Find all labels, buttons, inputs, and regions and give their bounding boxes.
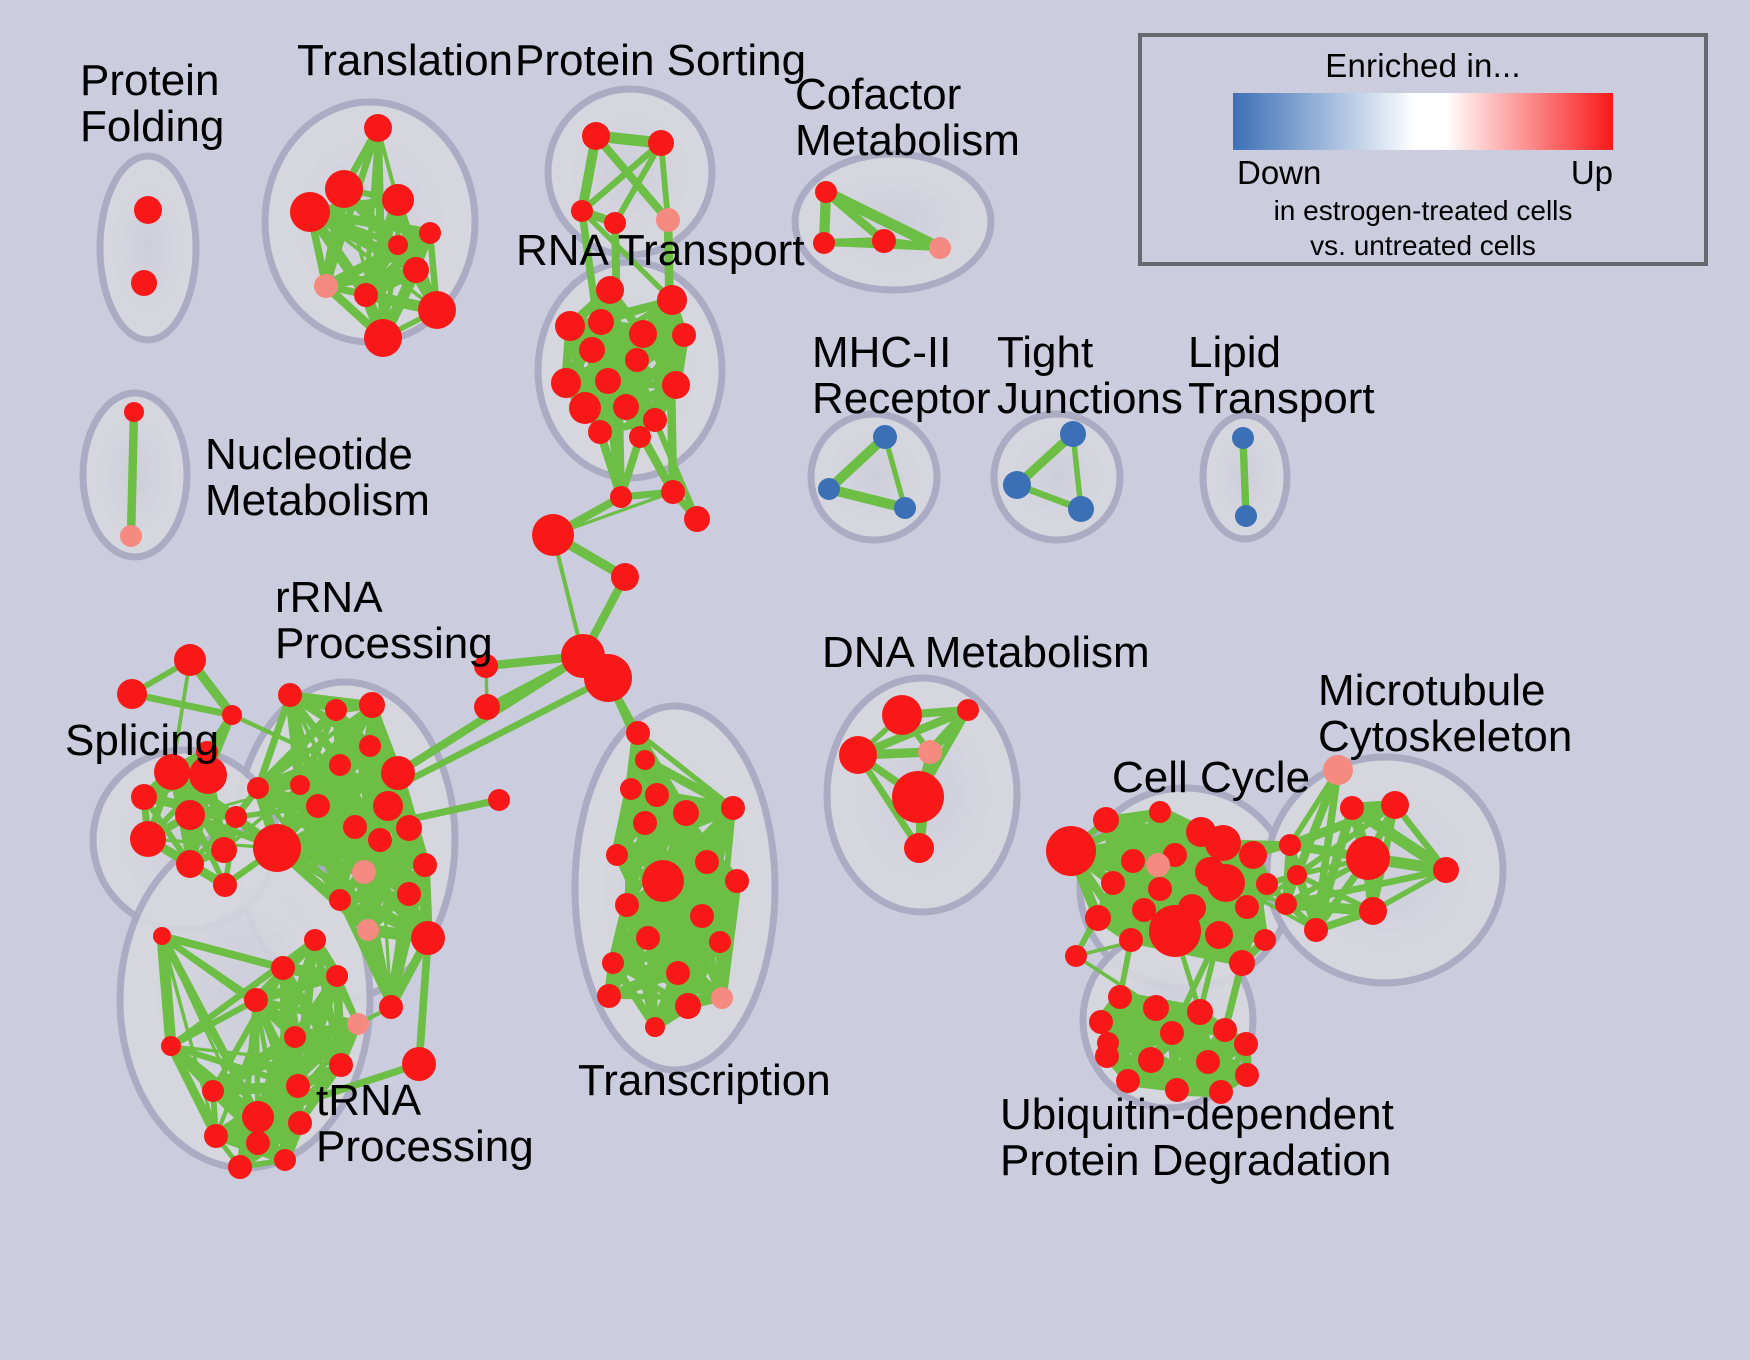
cluster-label-transcription: Transcription bbox=[578, 1058, 831, 1104]
network-node[interactable] bbox=[1093, 807, 1119, 833]
network-node[interactable] bbox=[246, 1131, 270, 1155]
color-legend: Enriched in... Down Up in estrogen-treat… bbox=[1138, 33, 1708, 266]
network-node[interactable] bbox=[1239, 841, 1267, 869]
network-node[interactable] bbox=[284, 1026, 306, 1048]
network-node[interactable] bbox=[244, 988, 268, 1012]
network-node[interactable] bbox=[813, 232, 835, 254]
network-node[interactable] bbox=[1108, 985, 1132, 1009]
network-node[interactable] bbox=[815, 181, 837, 203]
network-node[interactable] bbox=[1304, 918, 1328, 942]
network-node[interactable] bbox=[247, 777, 269, 799]
network-node[interactable] bbox=[595, 368, 621, 394]
network-node[interactable] bbox=[662, 371, 690, 399]
network-node[interactable] bbox=[130, 821, 166, 857]
network-node[interactable] bbox=[388, 235, 408, 255]
cluster-label-rrna-processing: rRNA Processing bbox=[275, 575, 493, 667]
network-node[interactable] bbox=[892, 771, 944, 823]
network-node[interactable] bbox=[569, 392, 601, 424]
network-node[interactable] bbox=[690, 904, 714, 928]
network-node[interactable] bbox=[1149, 801, 1171, 823]
network-node[interactable] bbox=[120, 525, 142, 547]
network-node[interactable] bbox=[1097, 1032, 1119, 1054]
network-node[interactable] bbox=[176, 850, 204, 878]
network-node[interactable] bbox=[1235, 895, 1259, 919]
network-node[interactable] bbox=[1205, 825, 1241, 861]
network-node[interactable] bbox=[709, 931, 731, 953]
network-node[interactable] bbox=[304, 929, 326, 951]
network-node[interactable] bbox=[1433, 857, 1459, 883]
network-node[interactable] bbox=[174, 644, 206, 676]
network-node[interactable] bbox=[626, 721, 650, 745]
cluster-label-protein-folding: Protein Folding bbox=[80, 58, 224, 150]
network-node[interactable] bbox=[117, 679, 147, 709]
network-node[interactable] bbox=[1207, 864, 1245, 902]
network-node[interactable] bbox=[1213, 1018, 1237, 1042]
network-node[interactable] bbox=[1085, 905, 1111, 931]
network-node[interactable] bbox=[1119, 928, 1143, 952]
network-node[interactable] bbox=[1287, 865, 1307, 885]
network-node[interactable] bbox=[684, 506, 710, 532]
network-node[interactable] bbox=[1346, 836, 1390, 880]
network-node[interactable] bbox=[413, 853, 437, 877]
network-node[interactable] bbox=[153, 927, 171, 945]
cluster-label-cofactor: Cofactor Metabolism bbox=[795, 72, 1020, 164]
network-node[interactable] bbox=[419, 222, 441, 244]
network-node[interactable] bbox=[597, 984, 621, 1008]
network-node[interactable] bbox=[131, 270, 157, 296]
network-node[interactable] bbox=[579, 337, 605, 363]
network-node[interactable] bbox=[957, 699, 979, 721]
legend-up-label: Up bbox=[1571, 154, 1613, 192]
network-node[interactable] bbox=[347, 1013, 369, 1035]
network-node[interactable] bbox=[396, 815, 422, 841]
network-node[interactable] bbox=[1235, 505, 1257, 527]
network-node[interactable] bbox=[225, 806, 247, 828]
network-node[interactable] bbox=[555, 311, 585, 341]
network-node[interactable] bbox=[364, 114, 392, 142]
network-node[interactable] bbox=[873, 425, 897, 449]
network-node[interactable] bbox=[1229, 950, 1255, 976]
network-node[interactable] bbox=[488, 789, 510, 811]
network-node[interactable] bbox=[620, 778, 642, 800]
network-node[interactable] bbox=[271, 956, 295, 980]
network-node[interactable] bbox=[359, 692, 385, 718]
network-node[interactable] bbox=[357, 919, 379, 941]
cluster-label-lipid-transport: Lipid Transport bbox=[1188, 330, 1375, 422]
cluster-label-microtubule: Microtubule Cytoskeleton bbox=[1318, 668, 1572, 760]
network-node[interactable] bbox=[611, 563, 639, 591]
network-node[interactable] bbox=[645, 783, 669, 807]
network-node[interactable] bbox=[1060, 421, 1086, 447]
network-edge[interactable] bbox=[131, 412, 134, 536]
network-node[interactable] bbox=[1101, 871, 1125, 895]
network-node[interactable] bbox=[1046, 826, 1096, 876]
network-node[interactable] bbox=[532, 514, 574, 556]
cluster-label-tight-junctions: Tight Junctions bbox=[997, 330, 1183, 422]
network-node[interactable] bbox=[343, 815, 367, 839]
network-node[interactable] bbox=[1068, 496, 1094, 522]
legend-endpoints: Down Up bbox=[1233, 154, 1613, 192]
network-node[interactable] bbox=[695, 850, 719, 874]
network-node[interactable] bbox=[882, 695, 922, 735]
network-node[interactable] bbox=[1235, 1063, 1259, 1087]
network-node[interactable] bbox=[364, 319, 402, 357]
legend-gradient-bar bbox=[1233, 93, 1613, 150]
network-node[interactable] bbox=[329, 889, 351, 911]
network-node[interactable] bbox=[278, 683, 302, 707]
cluster-label-cell-cycle: Cell Cycle bbox=[1112, 755, 1310, 801]
network-node[interactable] bbox=[253, 824, 301, 872]
network-node[interactable] bbox=[894, 497, 916, 519]
network-node[interactable] bbox=[1254, 929, 1276, 951]
network-node[interactable] bbox=[354, 283, 378, 307]
network-node[interactable] bbox=[839, 736, 877, 774]
network-node[interactable] bbox=[379, 995, 403, 1019]
network-node[interactable] bbox=[661, 480, 685, 504]
network-node[interactable] bbox=[1234, 1032, 1258, 1056]
network-node[interactable] bbox=[213, 873, 237, 897]
network-node[interactable] bbox=[711, 987, 733, 1009]
network-node[interactable] bbox=[290, 192, 330, 232]
network-node[interactable] bbox=[1275, 893, 1297, 915]
cluster-ellipse-protein-folding[interactable] bbox=[100, 156, 196, 340]
network-edge[interactable] bbox=[609, 996, 722, 998]
network-edge[interactable] bbox=[1243, 438, 1246, 516]
network-node[interactable] bbox=[329, 1053, 353, 1077]
network-node[interactable] bbox=[872, 229, 896, 253]
network-node[interactable] bbox=[588, 309, 614, 335]
network-node[interactable] bbox=[625, 348, 649, 372]
network-node[interactable] bbox=[673, 800, 699, 826]
network-node[interactable] bbox=[418, 291, 456, 329]
network-node[interactable] bbox=[1232, 427, 1254, 449]
network-node[interactable] bbox=[818, 478, 840, 500]
network-node[interactable] bbox=[382, 184, 414, 216]
network-node[interactable] bbox=[325, 699, 347, 721]
cluster-label-mhc-ii: MHC-II Receptor bbox=[812, 330, 991, 422]
cluster-label-translation: Translation bbox=[297, 38, 513, 84]
network-node[interactable] bbox=[633, 811, 657, 835]
network-node[interactable] bbox=[1160, 1021, 1184, 1045]
network-node[interactable] bbox=[131, 784, 157, 810]
network-node[interactable] bbox=[474, 694, 500, 720]
network-node[interactable] bbox=[124, 402, 144, 422]
network-node[interactable] bbox=[648, 130, 674, 156]
network-node[interactable] bbox=[636, 926, 660, 950]
network-node[interactable] bbox=[359, 735, 381, 757]
network-node[interactable] bbox=[606, 844, 628, 866]
network-node[interactable] bbox=[571, 200, 593, 222]
network-node[interactable] bbox=[596, 276, 624, 304]
network-node[interactable] bbox=[326, 965, 348, 987]
network-node[interactable] bbox=[1148, 877, 1172, 901]
network-node[interactable] bbox=[1065, 945, 1087, 967]
network-node[interactable] bbox=[228, 1155, 252, 1179]
network-node[interactable] bbox=[725, 869, 749, 893]
network-node[interactable] bbox=[411, 921, 445, 955]
network-node[interactable] bbox=[211, 837, 237, 863]
network-node[interactable] bbox=[134, 196, 162, 224]
network-node[interactable] bbox=[584, 654, 632, 702]
network-node[interactable] bbox=[1359, 897, 1387, 925]
network-node[interactable] bbox=[204, 1124, 228, 1148]
network-node[interactable] bbox=[1121, 849, 1145, 873]
network-node[interactable] bbox=[929, 237, 951, 259]
network-node[interactable] bbox=[588, 420, 612, 444]
network-node[interactable] bbox=[1089, 1010, 1113, 1034]
network-node[interactable] bbox=[904, 833, 934, 863]
network-node[interactable] bbox=[1149, 905, 1201, 957]
network-node[interactable] bbox=[161, 1036, 181, 1056]
network-node[interactable] bbox=[1279, 834, 1301, 856]
network-node[interactable] bbox=[381, 756, 415, 790]
network-node[interactable] bbox=[274, 1149, 296, 1171]
network-node[interactable] bbox=[329, 754, 351, 776]
network-node[interactable] bbox=[222, 705, 242, 725]
cluster-label-dna-metabolism: DNA Metabolism bbox=[822, 630, 1150, 676]
network-node[interactable] bbox=[1146, 853, 1170, 877]
network-node[interactable] bbox=[613, 394, 639, 420]
network-node[interactable] bbox=[1205, 921, 1233, 949]
legend-down-label: Down bbox=[1237, 154, 1321, 192]
cluster-label-ubiquitin: Ubiquitin-dependent Protein Degradation bbox=[1000, 1092, 1394, 1184]
network-node[interactable] bbox=[918, 740, 942, 764]
network-node[interactable] bbox=[602, 952, 624, 974]
network-node[interactable] bbox=[1381, 791, 1409, 819]
network-node[interactable] bbox=[551, 368, 581, 398]
network-node[interactable] bbox=[615, 893, 639, 917]
network-node[interactable] bbox=[610, 486, 632, 508]
network-node[interactable] bbox=[368, 828, 392, 852]
network-node[interactable] bbox=[675, 993, 701, 1019]
network-node[interactable] bbox=[642, 860, 684, 902]
network-node[interactable] bbox=[629, 320, 657, 348]
network-node[interactable] bbox=[666, 961, 690, 985]
network-node[interactable] bbox=[1340, 796, 1364, 820]
network-node[interactable] bbox=[1143, 995, 1169, 1021]
network-node[interactable] bbox=[1196, 1050, 1220, 1074]
network-node[interactable] bbox=[721, 796, 745, 820]
network-node[interactable] bbox=[645, 1017, 665, 1037]
network-node[interactable] bbox=[1003, 471, 1031, 499]
network-node[interactable] bbox=[325, 170, 363, 208]
network-node[interactable] bbox=[629, 426, 651, 448]
enrichment-map-figure: Protein FoldingTranslationProtein Sortin… bbox=[0, 0, 1750, 1360]
cluster-label-trna-processing: tRNA Processing bbox=[316, 1078, 534, 1170]
legend-title: Enriched in... bbox=[1325, 47, 1520, 85]
network-node[interactable] bbox=[403, 257, 429, 283]
network-node[interactable] bbox=[1187, 999, 1213, 1025]
network-node[interactable] bbox=[242, 1101, 274, 1133]
cluster-label-nucleotide: Nucleotide Metabolism bbox=[205, 432, 430, 524]
network-node[interactable] bbox=[373, 791, 403, 821]
network-node[interactable] bbox=[672, 323, 696, 347]
network-node[interactable] bbox=[582, 122, 610, 150]
network-node[interactable] bbox=[306, 794, 330, 818]
network-node[interactable] bbox=[1138, 1047, 1164, 1073]
network-node[interactable] bbox=[314, 274, 338, 298]
cluster-label-splicing: Splicing bbox=[65, 718, 219, 764]
cluster-label-protein-sorting: Protein Sorting bbox=[515, 38, 806, 84]
network-node[interactable] bbox=[635, 750, 655, 770]
network-node[interactable] bbox=[175, 800, 205, 830]
network-node[interactable] bbox=[657, 285, 687, 315]
legend-subtitle-line2: vs. untreated cells bbox=[1310, 229, 1536, 262]
network-node[interactable] bbox=[286, 1074, 310, 1098]
network-node[interactable] bbox=[288, 1111, 312, 1135]
network-node[interactable] bbox=[1256, 873, 1278, 895]
network-node[interactable] bbox=[397, 882, 421, 906]
network-node[interactable] bbox=[352, 860, 376, 884]
legend-subtitle-line1: in estrogen-treated cells bbox=[1274, 194, 1573, 227]
cluster-label-rna-transport: RNA Transport bbox=[516, 228, 805, 274]
network-node[interactable] bbox=[290, 775, 310, 795]
network-node[interactable] bbox=[202, 1080, 224, 1102]
